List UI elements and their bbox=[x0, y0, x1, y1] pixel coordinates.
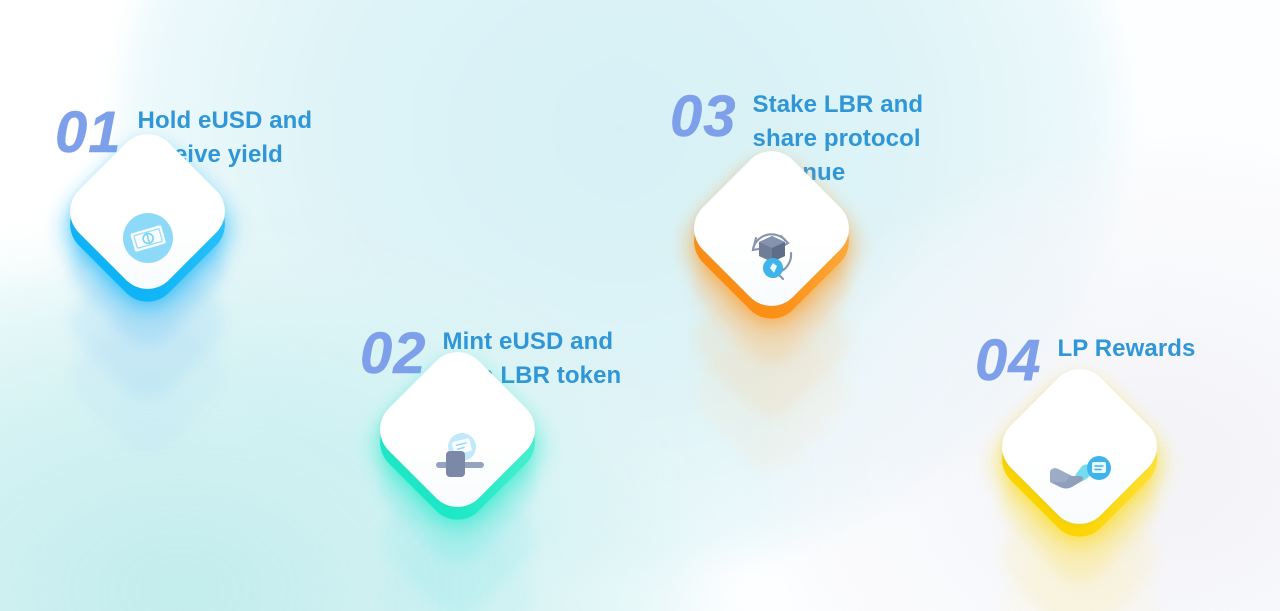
cube-recycle-stake-icon bbox=[682, 165, 862, 345]
step-04-number: 04 bbox=[975, 332, 1042, 390]
hand-coin-reward-icon bbox=[990, 383, 1170, 563]
banknote-dollar-icon bbox=[58, 148, 238, 328]
step-03-card-stack[interactable] bbox=[682, 165, 862, 345]
infographic-stage: 01 Hold eUSD andreceive yield bbox=[0, 0, 1280, 611]
step-02-card-stack[interactable] bbox=[368, 366, 548, 546]
step-03-number: 03 bbox=[670, 88, 737, 146]
step-01-card-stack[interactable] bbox=[58, 148, 238, 328]
step-04-title: LP Rewards bbox=[1058, 332, 1196, 366]
step-04-card-stack[interactable] bbox=[990, 383, 1170, 563]
step-card-04[interactable]: 04 LP Rewards bbox=[940, 0, 1280, 611]
mallet-mint-icon bbox=[368, 366, 548, 546]
